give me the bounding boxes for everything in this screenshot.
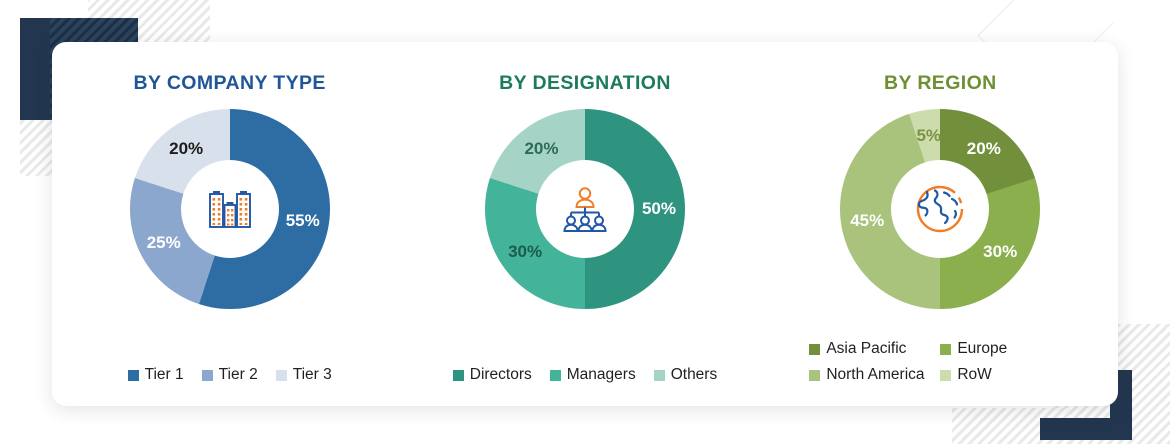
donut-center-company-type [181, 160, 279, 258]
legend-item[interactable]: RoW [940, 366, 1071, 384]
legend-swatch-icon [940, 370, 951, 381]
legend-label: Europe [957, 340, 1007, 358]
legend-item[interactable]: Others [654, 366, 718, 384]
org-hierarchy-icon [557, 181, 613, 237]
donut-segment-label: 20% [967, 139, 1001, 159]
panel-region: BY REGION [763, 42, 1118, 406]
legend-designation: DirectorsManagersOthers [407, 366, 762, 384]
donut-segment-label: 45% [850, 211, 884, 231]
legend-label: North America [826, 366, 924, 384]
panel-designation: BY DESIGNATION [407, 42, 762, 406]
donut-chart-company-type: 55%25%20% [130, 109, 330, 309]
legend-swatch-icon [550, 370, 561, 381]
panel-title-company-type: BY COMPANY TYPE [133, 72, 325, 95]
globe-icon [911, 180, 969, 238]
legend-swatch-icon [128, 370, 139, 381]
legend-region: Asia PacificEuropeNorth AmericaRoW [795, 340, 1085, 384]
legend-label: RoW [957, 366, 991, 384]
office-buildings-icon [202, 181, 258, 237]
donut-segment-label: 25% [147, 233, 181, 253]
legend-item[interactable]: Directors [453, 366, 532, 384]
legend-company-type: Tier 1Tier 2Tier 3 [52, 366, 407, 384]
legend-item[interactable]: North America [809, 366, 940, 384]
legend-label: Others [671, 366, 718, 384]
legend-label: Asia Pacific [826, 340, 906, 358]
donut-segment-label: 55% [286, 211, 320, 231]
infographic-card: BY COMPANY TYPE [52, 42, 1118, 406]
panel-title-designation: BY DESIGNATION [499, 72, 671, 95]
donut-segment-label: 30% [983, 242, 1017, 262]
panel-company-type: BY COMPANY TYPE [52, 42, 407, 406]
legend-swatch-icon [453, 370, 464, 381]
panels-container: BY COMPANY TYPE [52, 42, 1118, 406]
legend-label: Directors [470, 366, 532, 384]
donut-center-designation [536, 160, 634, 258]
legend-swatch-icon [202, 370, 213, 381]
donut-ring-designation: 50%30%20% [485, 109, 685, 309]
legend-item[interactable]: Asia Pacific [809, 340, 940, 358]
donut-center-region [891, 160, 989, 258]
legend-label: Tier 2 [219, 366, 258, 384]
legend-item[interactable]: Tier 2 [202, 366, 258, 384]
navy-corner-block-solid-edge [20, 18, 50, 120]
donut-ring-company-type: 55%25%20% [130, 109, 330, 309]
donut-segment-label: 30% [508, 242, 542, 262]
legend-swatch-icon [276, 370, 287, 381]
donut-segment-label: 5% [916, 126, 941, 146]
legend-label: Tier 3 [293, 366, 332, 384]
legend-swatch-icon [940, 344, 951, 355]
legend-label: Managers [567, 366, 636, 384]
legend-swatch-icon [809, 344, 820, 355]
l-bracket-horizontal [1040, 418, 1132, 440]
legend-label: Tier 1 [145, 366, 184, 384]
legend-swatch-icon [654, 370, 665, 381]
legend-item[interactable]: Tier 1 [128, 366, 184, 384]
donut-ring-region: 20%30%45%5% [840, 109, 1040, 309]
donut-chart-designation: 50%30%20% [485, 109, 685, 309]
donut-chart-region: 20%30%45%5% [840, 109, 1040, 309]
panel-title-region: BY REGION [884, 72, 997, 95]
legend-swatch-icon [809, 370, 820, 381]
donut-segment-label: 20% [169, 139, 203, 159]
donut-segment-label: 50% [642, 199, 676, 219]
legend-item[interactable]: Europe [940, 340, 1071, 358]
legend-item[interactable]: Tier 3 [276, 366, 332, 384]
donut-segment-label: 20% [524, 139, 558, 159]
legend-item[interactable]: Managers [550, 366, 636, 384]
